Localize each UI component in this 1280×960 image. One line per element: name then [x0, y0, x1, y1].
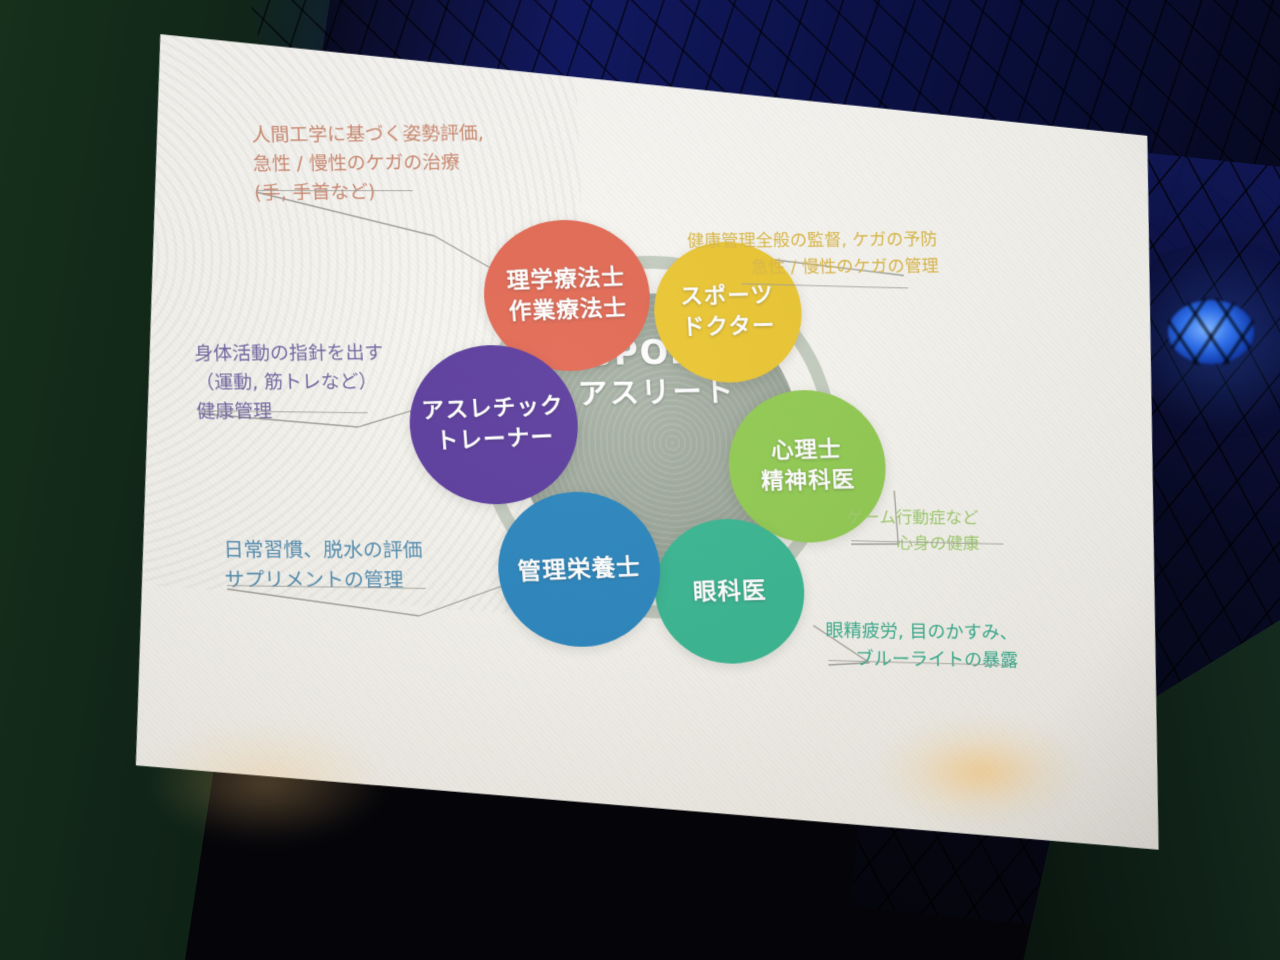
bubble-label-line1: 管理栄養士 — [517, 551, 642, 588]
annotation-line: 健康管理全般の監督, ケガの予防 — [686, 227, 938, 255]
annotation-line: 日常習慣、脱水の評価 — [223, 534, 423, 565]
annotation-line: （運動, 筋トレなど） — [195, 368, 385, 398]
slide-content: eSPORTS アスリート 理学療法士 作業療法士 スポーツ ドクター 心理士 … — [98, 24, 1182, 903]
annotation-physical-occupational-therapist: 人間工学に基づく姿勢評価, 急性 / 慢性のケガの治療 (手, 手首など) — [251, 119, 487, 207]
bubble-label-line1: 心理士 — [770, 435, 842, 467]
bubble-label-line2: 作業療法士 — [508, 293, 628, 328]
annotation-ophthalmologist: 眼精疲労, 目のかすみ、 ブルーライトの暴露 — [825, 618, 1018, 676]
annotation-line: 心身の健康 — [847, 532, 980, 558]
annotation-line: サプリメントの管理 — [224, 565, 424, 596]
bubble-label-line2: 精神科医 — [760, 465, 856, 498]
annotation-line: 急性 / 慢性のケガの治療 — [252, 148, 485, 179]
annotation-line: 急性 / 慢性のケガの管理 — [688, 253, 940, 281]
bubble-label-line2: トレーナー — [435, 422, 556, 458]
annotation-underline — [256, 190, 413, 191]
bubble-label-line1: 理学療法士 — [506, 262, 626, 297]
blue-stage-light — [1168, 300, 1254, 364]
bubble-label-line1: スポーツ — [679, 280, 774, 313]
bubble-label-line2: ドクター — [681, 311, 776, 344]
annotation-line: ゲーム行動症など — [846, 506, 979, 532]
annotation-psychologist-psychiatrist: ゲーム行動症など 心身の健康 — [846, 506, 980, 558]
annotation-line: 身体活動の指針を出す — [194, 339, 384, 369]
bubble-label-line1: 眼科医 — [692, 574, 767, 608]
annotation-sports-doctor: 健康管理全般の監督, ケガの予防 急性 / 慢性のケガの管理 — [686, 227, 939, 281]
projection-screen: eSPORTS アスリート 理学療法士 作業療法士 スポーツ ドクター 心理士 … — [98, 24, 1182, 903]
annotation-line: 眼精疲労, 目のかすみ、 — [825, 618, 1018, 648]
annotation-line: (手, 手首など) — [254, 177, 487, 208]
annotation-line: 人間工学に基づく姿勢評価, — [251, 119, 484, 150]
